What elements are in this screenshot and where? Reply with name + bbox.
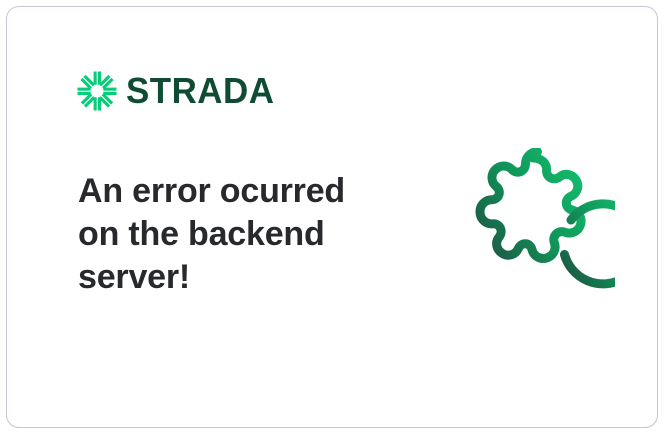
gear-cog-icon [451,148,615,312]
brand-wordmark: STRADA [126,73,274,109]
gear-illustration [451,148,615,312]
error-page: STRADA An error ocurred on the backend s… [0,0,666,436]
strada-asterisk-icon [77,71,117,111]
error-card: STRADA An error ocurred on the backend s… [6,6,658,428]
brand-lockup: STRADA [77,71,279,111]
error-headline: An error ocurred on the backend server! [78,170,378,299]
